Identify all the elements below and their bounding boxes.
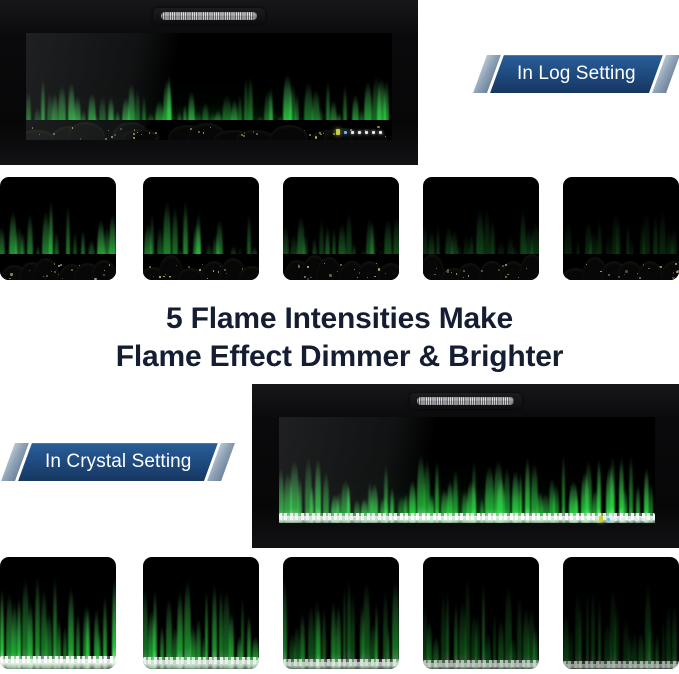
- ember-spark: [46, 275, 48, 277]
- ember-spark: [505, 264, 506, 265]
- led-white[interactable]: [379, 131, 382, 134]
- thumbnail-intensity-5: [0, 177, 116, 280]
- thumbnail-flames: [563, 557, 679, 669]
- thumbnail-intensity-1: [563, 177, 679, 280]
- banner-body: In Crystal Setting: [18, 443, 218, 481]
- ember-log: [33, 258, 59, 280]
- ember-spark: [451, 272, 452, 273]
- flame-tongue: [666, 604, 671, 669]
- thumbnail-intensity-3: [283, 177, 399, 280]
- flame-tongue: [392, 580, 398, 669]
- ember-log: [67, 122, 105, 140]
- ember-spark: [43, 276, 44, 277]
- ember-spark: [188, 266, 190, 268]
- led-white[interactable]: [358, 131, 361, 134]
- firebox-glass: [26, 33, 392, 140]
- ember-spark: [298, 264, 299, 265]
- flame-tongue: [343, 584, 346, 669]
- flame-tongue: [579, 596, 582, 669]
- unit-handle: [410, 393, 522, 409]
- ember-spark: [436, 268, 437, 269]
- ember-spark: [29, 270, 30, 271]
- ember-log: [270, 125, 308, 140]
- unit-handle: [153, 8, 265, 24]
- ember-spark: [648, 268, 649, 269]
- flame-tongue: [614, 599, 619, 669]
- thumbnail-flames: [0, 557, 116, 669]
- thumbnail-intensity-3: [283, 557, 399, 669]
- banner-label: In Log Setting: [517, 63, 636, 85]
- ember-spark: [198, 131, 199, 132]
- ember-log: [519, 254, 539, 280]
- ember-spark: [94, 278, 96, 280]
- led-amber[interactable]: [336, 129, 340, 135]
- banner-crystal-setting: In Crystal Setting: [8, 443, 228, 481]
- ember-spark: [199, 269, 200, 270]
- thumbnail-flames: [283, 557, 399, 669]
- ember-log: [378, 263, 399, 280]
- thumbnail-intensity-5: [0, 557, 116, 669]
- firebox-glass: [279, 417, 655, 523]
- log-ember-bed: [283, 254, 399, 280]
- led-white[interactable]: [621, 518, 624, 521]
- ember-spark: [637, 273, 638, 274]
- log-ember-bed: [143, 254, 259, 280]
- thumbnail-intensity-4: [143, 177, 259, 280]
- ember-spark: [377, 126, 379, 128]
- ember-spark: [310, 277, 311, 278]
- ember-spark: [329, 274, 331, 276]
- ember-spark: [111, 136, 113, 138]
- ember-spark: [618, 276, 620, 278]
- thumbnail-flames: [423, 557, 539, 669]
- ember-spark: [51, 271, 52, 272]
- ember-spark: [103, 274, 105, 276]
- ember-spark: [307, 278, 309, 280]
- ember-spark: [660, 266, 662, 268]
- ember-spark: [176, 265, 177, 266]
- ember-spark: [190, 128, 192, 130]
- banner-body: In Log Setting: [490, 55, 662, 93]
- ember-spark: [526, 268, 527, 269]
- thumbnail-flames: [143, 557, 259, 669]
- ember-spark: [340, 264, 342, 266]
- flame-tongue: [212, 583, 217, 669]
- fireplace-unit-crystal: [252, 384, 679, 548]
- ember-spark: [32, 127, 33, 128]
- ember-spark: [304, 130, 305, 131]
- ember-spark: [163, 276, 164, 277]
- ember-spark: [224, 269, 225, 270]
- crystal-ember-bed: [143, 660, 259, 669]
- led-white[interactable]: [351, 131, 354, 134]
- crystal-ember-bed: [0, 659, 116, 669]
- ember-spark: [165, 274, 166, 275]
- flame-tongue: [598, 597, 601, 669]
- ember-spark: [672, 277, 674, 279]
- control-panel-leds[interactable]: [336, 129, 382, 135]
- led-white[interactable]: [628, 518, 631, 521]
- ember-spark: [586, 264, 587, 265]
- led-blue[interactable]: [344, 131, 347, 134]
- led-amber[interactable]: [599, 516, 603, 522]
- crystal-ember-bed: [283, 662, 399, 669]
- led-white[interactable]: [642, 518, 645, 521]
- thumbnail-intensity-4: [143, 557, 259, 669]
- ember-spark: [378, 268, 380, 270]
- banner-log-setting: In Log Setting: [480, 55, 673, 93]
- handle-mesh-icon: [161, 12, 257, 20]
- crystal-ember-bed: [563, 664, 679, 669]
- ember-spark: [60, 264, 62, 266]
- ember-spark: [108, 130, 109, 131]
- led-white[interactable]: [372, 131, 375, 134]
- ember-spark: [315, 136, 317, 138]
- flame-effect: [279, 417, 655, 523]
- control-panel-leds[interactable]: [599, 516, 645, 522]
- ember-spark: [104, 270, 105, 271]
- crystal-ember-bed: [423, 663, 539, 669]
- ember-spark: [307, 266, 308, 267]
- flame-tongue: [672, 604, 676, 669]
- flame-tongue: [465, 576, 470, 669]
- ember-spark: [502, 265, 504, 267]
- ember-spark: [481, 270, 483, 272]
- ember-spark: [333, 133, 334, 134]
- flame-tongue: [283, 577, 287, 669]
- ember-spark: [456, 273, 457, 274]
- log-ember-bed: [563, 254, 679, 280]
- ember-spark: [109, 264, 110, 265]
- headline-line-2: Flame Effect Dimmer & Brighter: [0, 338, 679, 376]
- ember-spark: [309, 134, 311, 136]
- flame-tongue: [351, 591, 355, 669]
- ember-spark: [323, 133, 324, 134]
- ember-spark: [10, 273, 12, 275]
- thumbnail-intensity-1: [563, 557, 679, 669]
- flame-tongue: [517, 594, 522, 669]
- flame-tongue: [454, 601, 458, 669]
- led-blue[interactable]: [607, 518, 610, 521]
- ember-spark: [673, 272, 675, 274]
- ember-spark: [253, 131, 254, 132]
- ember-spark: [120, 128, 122, 130]
- led-white[interactable]: [365, 131, 368, 134]
- flame-tongue: [591, 589, 594, 669]
- page-headline: 5 Flame Intensities Make Flame Effect Di…: [0, 300, 679, 377]
- ember-spark: [447, 271, 449, 273]
- log-ember-bed: [0, 254, 116, 280]
- thumbnail-intensity-2: [423, 177, 539, 280]
- ember-spark: [133, 137, 135, 139]
- ember-spark: [625, 270, 627, 272]
- ember-spark: [71, 269, 73, 271]
- ember-spark: [434, 274, 436, 276]
- ember-spark: [498, 269, 500, 271]
- ember-spark: [298, 265, 300, 267]
- thumbnail-intensity-2: [423, 557, 539, 669]
- ember-spark: [58, 274, 59, 275]
- ember-spark: [137, 132, 138, 133]
- handle-mesh-icon: [417, 397, 513, 405]
- ember-spark: [159, 276, 161, 278]
- flame-tongue: [586, 589, 589, 669]
- ember-spark: [153, 276, 154, 277]
- log-ember-bed: [423, 254, 539, 280]
- led-white[interactable]: [614, 518, 617, 521]
- flame-tongue: [363, 581, 370, 669]
- ember-spark: [202, 264, 203, 265]
- banner-label: In Crystal Setting: [45, 451, 191, 473]
- ember-spark: [133, 133, 135, 135]
- ember-spark: [105, 138, 107, 140]
- headline-line-1: 5 Flame Intensities Make: [166, 302, 513, 335]
- led-white[interactable]: [635, 518, 638, 521]
- flame-tongue: [446, 590, 449, 669]
- fireplace-unit-log: [0, 0, 418, 165]
